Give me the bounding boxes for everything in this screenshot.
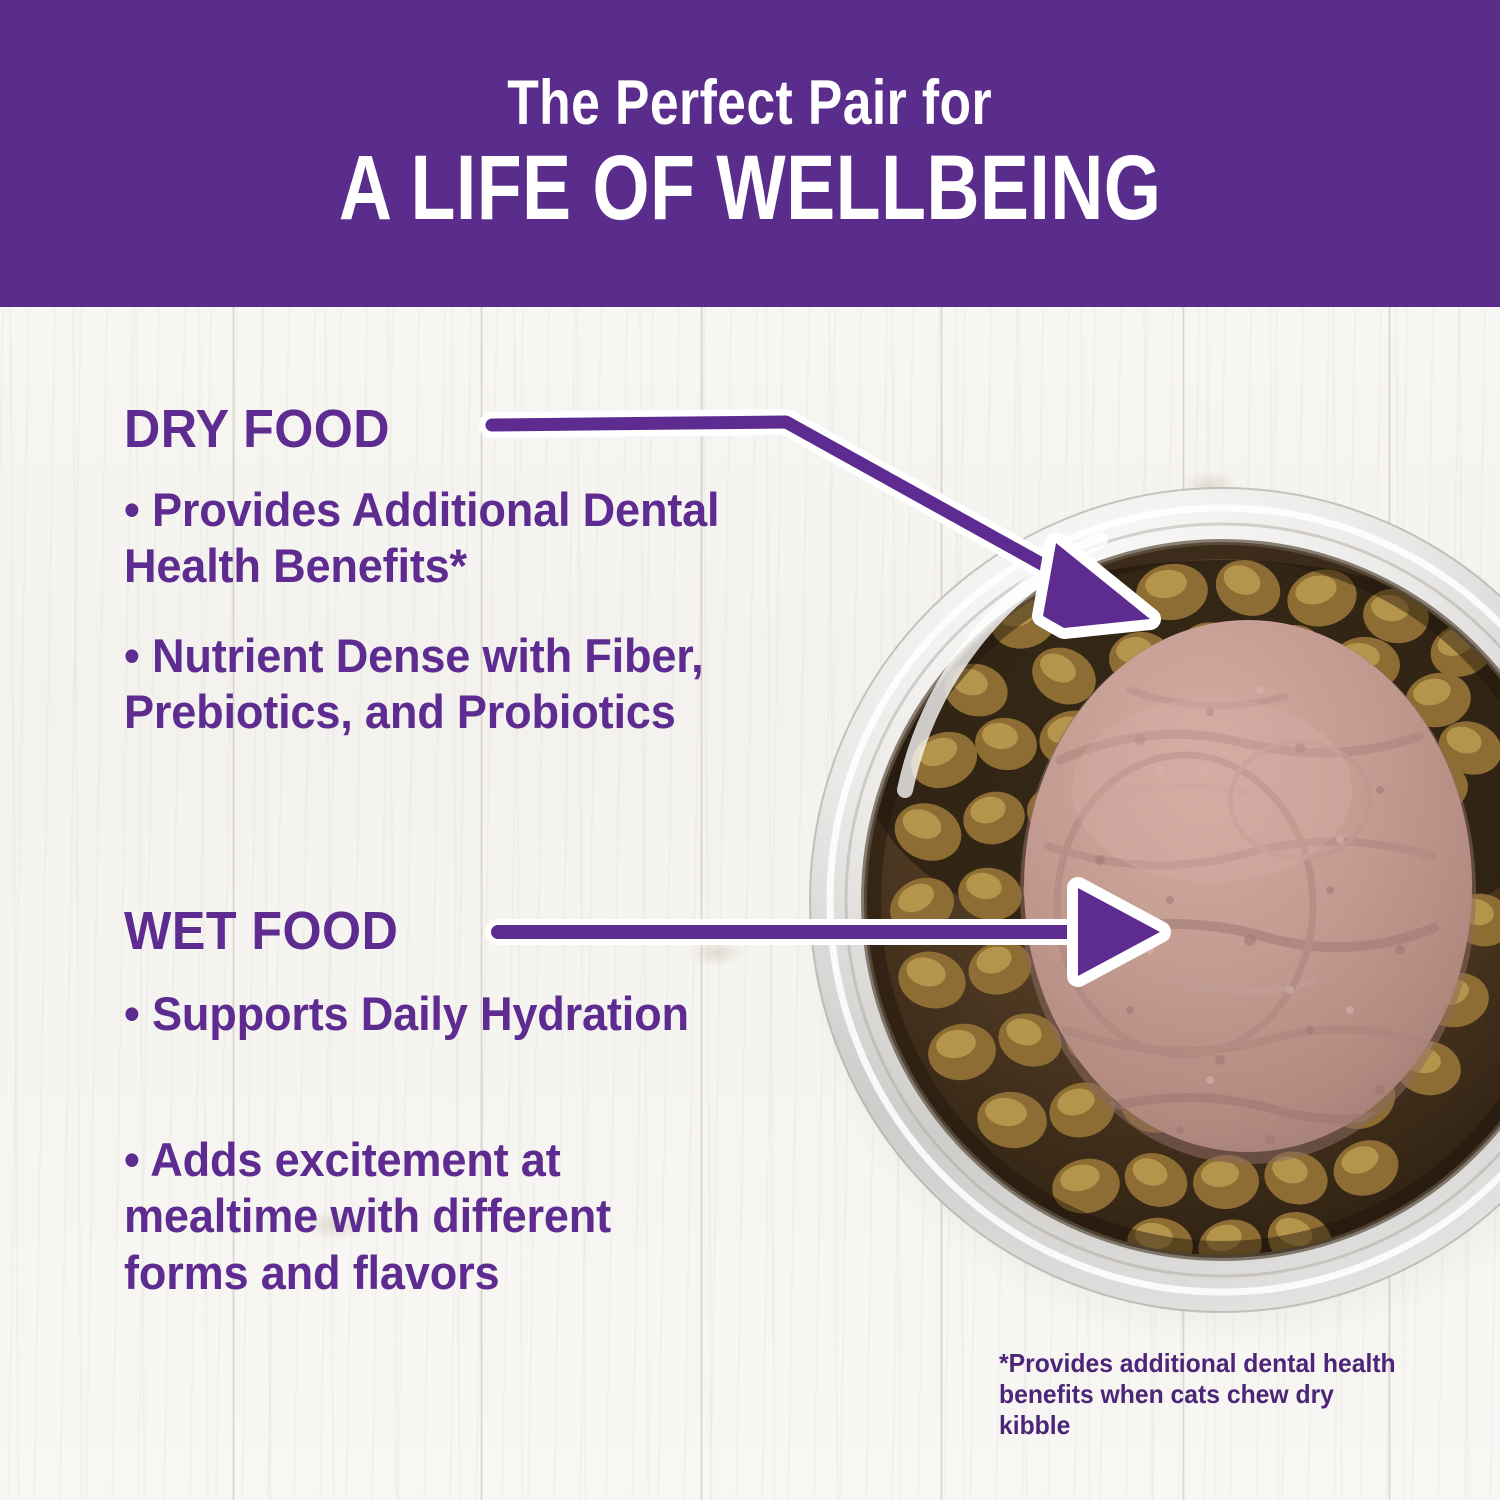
wet-food-heading: WET FOOD: [124, 900, 398, 962]
dry-food-bullet-2: • Nutrient Dense with Fiber, Prebiotics,…: [124, 628, 738, 741]
wet-food-bullet-2: • Adds excitement at mealtime with diffe…: [124, 1132, 738, 1301]
header-line-1: The Perfect Pair for: [508, 71, 993, 135]
dry-food-bullet-1: • Provides Additional Dental Health Bene…: [124, 482, 738, 595]
wet-food-bullet-1: • Supports Daily Hydration: [124, 986, 689, 1042]
header-line-2: A LIFE OF WELLBEING: [339, 142, 1162, 236]
wood-knot: [1180, 470, 1240, 504]
wood-knot: [690, 940, 744, 966]
header-banner: The Perfect Pair for A LIFE OF WELLBEING: [0, 0, 1500, 307]
dry-food-heading: DRY FOOD: [124, 398, 390, 460]
promo-infographic: The Perfect Pair for A LIFE OF WELLBEING…: [0, 0, 1500, 1500]
footnote-text: *Provides additional dental health benef…: [999, 1348, 1408, 1442]
